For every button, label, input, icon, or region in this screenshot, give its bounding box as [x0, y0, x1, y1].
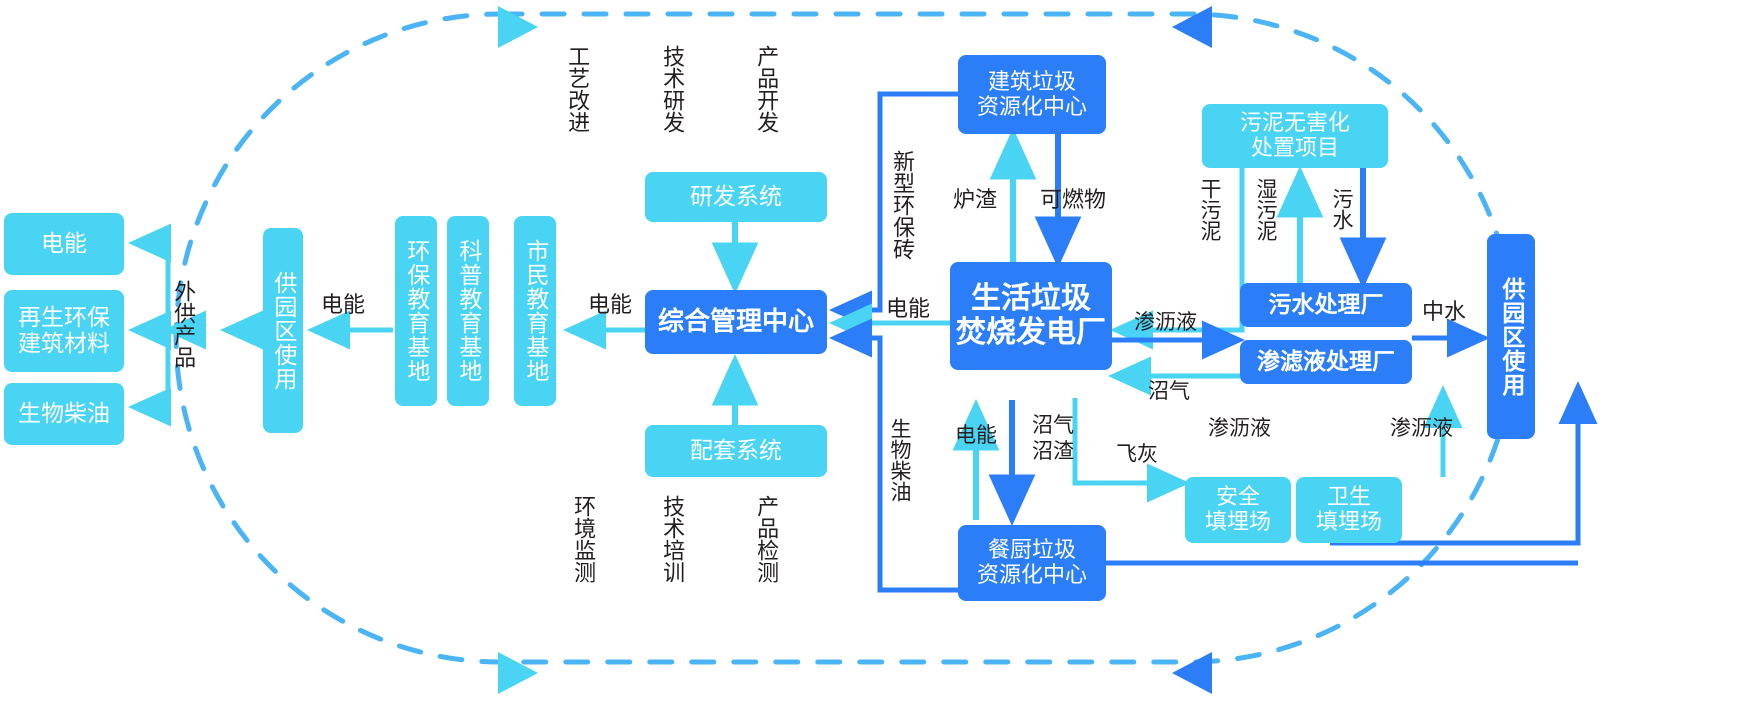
node-construction-waste-center[interactable]: 建筑垃圾 资源化中心 [958, 55, 1106, 134]
research-label-tech-rnd: 技术研发 [661, 45, 684, 133]
research-label-env-monitoring: 环境监测 [572, 495, 595, 583]
research-label-product-testing: 产品检测 [755, 495, 778, 583]
edge-label-dry-sludge: 干污泥 [1198, 178, 1220, 241]
diagram-canvas: 电能 再生环保 建筑材料 生物柴油 供园区使用 环保教育基地 科普教育基地 市民… [0, 0, 1740, 724]
node-park-supply-right[interactable]: 供园区使用 [1487, 234, 1535, 439]
edge-label-biogas-residue: 沼气 沼渣 [1032, 413, 1074, 466]
research-label-product-dev: 产品开发 [755, 45, 778, 133]
edge-label-external-products: 外供产品 [172, 280, 195, 368]
research-label-process-improvement: 工艺改进 [566, 45, 589, 133]
edge-label-wet-sludge: 湿污泥 [1254, 178, 1276, 241]
edge-label-leachate-top: 渗沥液 [1134, 312, 1197, 334]
node-electric-power-output[interactable]: 电能 [4, 213, 124, 275]
research-label-tech-training: 技术培训 [661, 495, 684, 583]
node-science-education-base[interactable]: 科普教育基地 [447, 216, 489, 406]
node-recycled-building-material[interactable]: 再生环保 建筑材料 [4, 290, 124, 372]
node-leachate-treatment-plant[interactable]: 渗滤液处理厂 [1240, 340, 1412, 384]
node-kitchen-waste-center[interactable]: 餐厨垃圾 资源化中心 [958, 525, 1106, 601]
node-citizen-education-base[interactable]: 市民教育基地 [514, 216, 556, 406]
node-supporting-system[interactable]: 配套系统 [645, 425, 827, 477]
node-sanitary-landfill[interactable]: 卫生 填埋场 [1296, 477, 1402, 543]
node-integrated-management-center[interactable]: 综合管理中心 [645, 290, 827, 354]
edge-label-power-to-center: 电能 [886, 297, 930, 320]
node-sludge-harmless-treatment[interactable]: 污泥无害化 处置项目 [1202, 104, 1388, 168]
node-sewage-treatment-plant[interactable]: 污水处理厂 [1240, 283, 1412, 327]
node-env-education-base[interactable]: 环保教育基地 [395, 216, 437, 406]
connector-layer [0, 0, 1740, 724]
node-park-supply-left[interactable]: 供园区使用 [263, 228, 303, 433]
node-park-supply-left-label: 供园区使用 [270, 271, 296, 391]
edge-label-slag: 炉渣 [953, 188, 997, 211]
node-science-education-base-label: 科普教育基地 [455, 239, 481, 383]
edge-label-combustibles: 可燃物 [1040, 188, 1106, 211]
edge-label-reclaimed-water: 中水 [1422, 300, 1466, 323]
edge-label-power-to-park: 电能 [321, 293, 365, 316]
edge-label-wastewater: 污水 [1330, 188, 1352, 230]
node-env-education-base-label: 环保教育基地 [403, 239, 429, 383]
edge-label-leachate-sanitary: 渗沥液 [1390, 418, 1453, 440]
node-msw-incineration-power-plant[interactable]: 生活垃圾 焚烧发电厂 [950, 262, 1112, 370]
edge-label-biodiesel: 生物柴油 [888, 418, 910, 502]
edge-label-leachate-secure: 渗沥液 [1208, 418, 1271, 440]
edge-label-fly-ash: 飞灰 [1116, 444, 1158, 466]
node-park-supply-right-label: 供园区使用 [1498, 277, 1524, 397]
edge-label-biogas-mid: 沼气 [1148, 381, 1190, 403]
edge-label-power-kitchen: 电能 [955, 425, 997, 447]
node-rnd-system[interactable]: 研发系统 [645, 172, 827, 222]
edge-label-power-to-education: 电能 [588, 293, 632, 316]
node-secure-landfill[interactable]: 安全 填埋场 [1185, 477, 1291, 543]
edge-label-new-eco-brick: 新型环保砖 [891, 150, 914, 260]
node-biodiesel[interactable]: 生物柴油 [4, 383, 124, 445]
node-citizen-education-base-label: 市民教育基地 [522, 239, 548, 383]
